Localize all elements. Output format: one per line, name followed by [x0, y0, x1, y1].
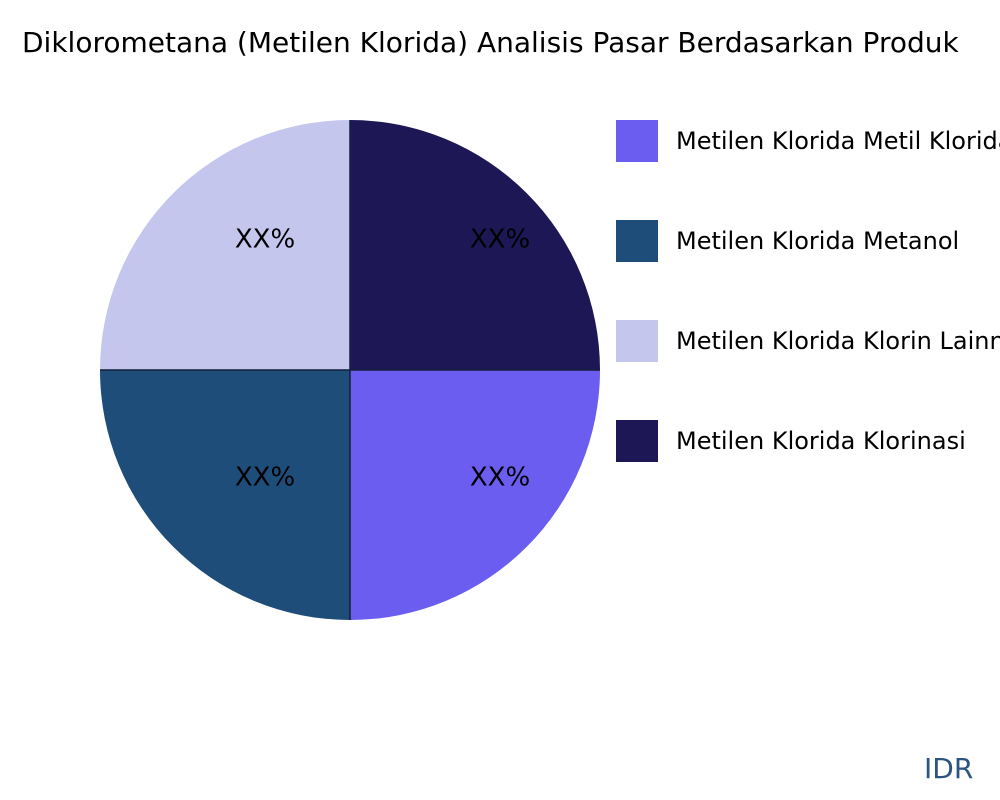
pie-slice-label-3: XX%	[235, 463, 295, 493]
legend-item-2[interactable]: Metilen Klorida Klorin Lainnya	[616, 320, 1000, 362]
legend-item-3[interactable]: Metilen Klorida Klorinasi	[616, 420, 1000, 462]
legend-label-2: Metilen Klorida Klorin Lainnya	[676, 320, 1000, 362]
pie-plot-area: XX% XX% XX% XX%	[100, 120, 600, 620]
legend-swatch-icon-1	[616, 220, 658, 262]
legend-label-1: Metilen Klorida Metanol	[676, 220, 959, 262]
legend-swatch-icon-0	[616, 120, 658, 162]
legend-swatch-icon-2	[616, 320, 658, 362]
pie-slice-label-4: XX%	[235, 225, 295, 255]
pie-slice-2[interactable]	[350, 370, 600, 620]
pie-svg: XX% XX% XX% XX%	[100, 120, 600, 620]
legend-label-0: Metilen Klorida Metil Klorida	[676, 120, 1000, 162]
pie-chart-figure: Diklorometana (Metilen Klorida) Analisis…	[0, 0, 1000, 800]
currency-note: IDR	[924, 752, 973, 786]
chart-legend: Metilen Klorida Metil Klorida Metilen Kl…	[616, 105, 1000, 485]
pie-slice-4[interactable]	[100, 120, 350, 370]
pie-slice-label-2: XX%	[470, 463, 530, 493]
chart-title: Diklorometana (Metilen Klorida) Analisis…	[22, 26, 959, 60]
legend-item-1[interactable]: Metilen Klorida Metanol	[616, 220, 1000, 262]
legend-swatch-icon-3	[616, 420, 658, 462]
legend-label-3: Metilen Klorida Klorinasi	[676, 420, 966, 462]
pie-slice-label-1: XX%	[470, 225, 530, 255]
legend-item-0[interactable]: Metilen Klorida Metil Klorida	[616, 120, 1000, 162]
pie-slice-3[interactable]	[100, 370, 350, 620]
